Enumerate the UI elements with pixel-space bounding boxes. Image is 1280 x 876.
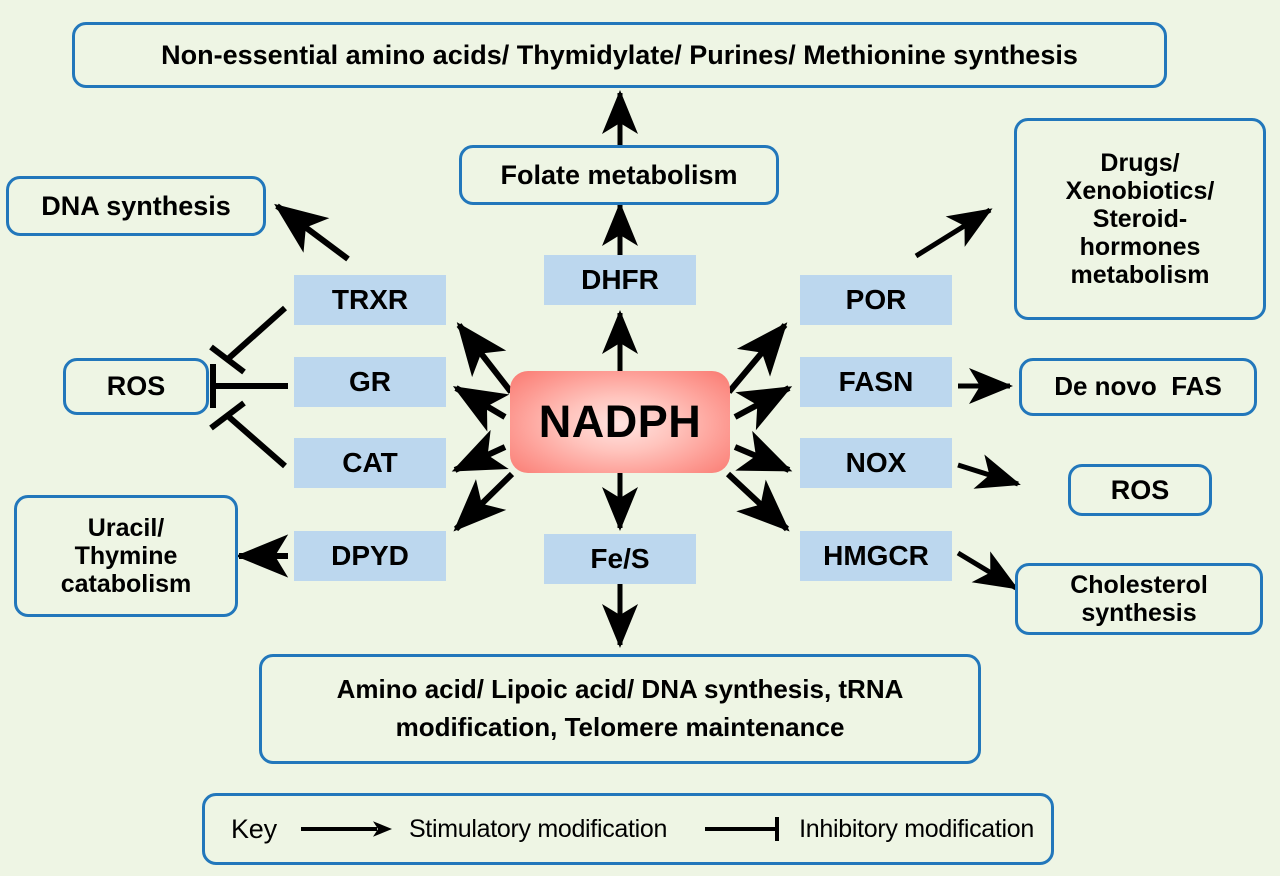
pathway-drugs-xenobiotics-steroid-hormones[interactable]: Drugs/ Xenobiotics/ Steroid- hormones me…	[1014, 118, 1266, 320]
enzyme-trxr-label: TRXR	[332, 284, 408, 315]
enzyme-hmgcr-label: HMGCR	[823, 540, 929, 571]
enzyme-gr-label: GR	[349, 366, 391, 397]
central-node-nadph[interactable]: NADPH	[510, 371, 730, 473]
edge-nox-ros	[958, 465, 1018, 484]
pathway-uracil-line-3: catabolism	[61, 570, 192, 598]
edge-nadph-fasn	[735, 388, 789, 417]
enzyme-dpyd-label: DPYD	[331, 540, 409, 571]
edge-por-drugs	[916, 210, 990, 256]
pathway-folate-metabolism-label: Folate metabolism	[500, 160, 737, 190]
enzyme-fasn-label: FASN	[839, 366, 914, 397]
pathway-uracil-thymine-catabolism[interactable]: Uracil/ Thymine catabolism	[14, 495, 238, 617]
enzyme-cat[interactable]: CAT	[294, 438, 446, 488]
key-inhibitory-label: Inhibitory modification	[799, 815, 1034, 843]
edge-nadph-hmgcr	[728, 474, 787, 529]
stimulatory-arrow-icon	[299, 818, 395, 840]
pathway-dna-synthesis-label: DNA synthesis	[41, 191, 231, 221]
pathway-de-novo-fas[interactable]: De novo FAS	[1019, 358, 1257, 416]
pathway-ros-left-label: ROS	[107, 371, 166, 401]
enzyme-dpyd[interactable]: DPYD	[294, 531, 446, 581]
edge-trxr-dna-synthesis	[277, 206, 348, 259]
edge-nadph-dpyd	[456, 474, 512, 529]
edge-cat-ros-bar	[211, 403, 244, 428]
pathway-cholesterol-line-1: Cholesterol	[1070, 571, 1208, 599]
enzyme-nox-label: NOX	[846, 447, 907, 478]
edge-nadph-nox	[735, 447, 789, 470]
pathway-drugs-line-4: hormones	[1080, 233, 1201, 261]
edge-trxr-ros-line	[229, 308, 285, 358]
pathway-cholesterol-line-2: synthesis	[1081, 599, 1196, 627]
pathway-ros-right[interactable]: ROS	[1068, 464, 1212, 516]
enzyme-por[interactable]: POR	[800, 275, 952, 325]
enzyme-gr[interactable]: GR	[294, 357, 446, 407]
pathway-drugs-line-2: Xenobiotics/	[1066, 177, 1215, 205]
enzyme-fasn[interactable]: FASN	[800, 357, 952, 407]
enzyme-fes-label: Fe/S	[590, 543, 649, 574]
enzyme-por-label: POR	[846, 284, 907, 315]
key-label: Key	[231, 814, 277, 844]
pathway-bottom-banner[interactable]: Amino acid/ Lipoic acid/ DNA synthesis, …	[259, 654, 981, 764]
pathway-ros-left[interactable]: ROS	[63, 358, 209, 415]
pathway-top-banner[interactable]: Non-essential amino acids/ Thymidylate/ …	[72, 22, 1167, 88]
central-node-nadph-label: NADPH	[539, 397, 702, 447]
enzyme-fes[interactable]: Fe/S	[544, 534, 696, 584]
pathway-drugs-line-3: Steroid-	[1093, 205, 1187, 233]
pathway-bottom-banner-line-2: modification, Telomere maintenance	[396, 709, 845, 747]
edge-cat-ros-line	[229, 417, 285, 466]
pathway-cholesterol-synthesis[interactable]: Cholesterol synthesis	[1015, 563, 1263, 635]
enzyme-dhfr[interactable]: DHFR	[544, 255, 696, 305]
edge-hmgcr-cholesterol	[958, 553, 1016, 588]
enzyme-hmgcr[interactable]: HMGCR	[800, 531, 952, 581]
edge-nadph-por	[729, 325, 785, 392]
pathway-bottom-banner-line-1: Amino acid/ Lipoic acid/ DNA synthesis, …	[337, 671, 904, 709]
key-legend[interactable]: Key Stimulatory modification Inhibitory …	[202, 793, 1054, 865]
pathway-ros-right-label: ROS	[1111, 475, 1170, 505]
pathway-uracil-line-1: Uracil/	[88, 514, 164, 542]
pathway-uracil-line-2: Thymine	[75, 542, 178, 570]
pathway-dna-synthesis[interactable]: DNA synthesis	[6, 176, 266, 236]
edge-nadph-trxr	[459, 325, 511, 392]
pathway-top-banner-label: Non-essential amino acids/ Thymidylate/ …	[161, 40, 1078, 70]
pathway-de-novo-fas-label: De novo FAS	[1054, 372, 1222, 401]
enzyme-dhfr-label: DHFR	[581, 264, 659, 295]
enzyme-nox[interactable]: NOX	[800, 438, 952, 488]
enzyme-trxr[interactable]: TRXR	[294, 275, 446, 325]
inhibitory-bar-icon	[703, 814, 787, 844]
edge-nadph-cat	[455, 447, 505, 470]
key-stimulatory-label: Stimulatory modification	[409, 815, 667, 843]
enzyme-cat-label: CAT	[342, 447, 397, 478]
diagram-canvas: Non-essential amino acids/ Thymidylate/ …	[0, 0, 1280, 876]
pathway-folate-metabolism[interactable]: Folate metabolism	[459, 145, 779, 205]
edge-trxr-ros-bar	[211, 347, 244, 372]
edge-nadph-gr	[456, 388, 505, 417]
pathway-drugs-line-5: metabolism	[1071, 261, 1210, 289]
pathway-drugs-line-1: Drugs/	[1100, 149, 1179, 177]
